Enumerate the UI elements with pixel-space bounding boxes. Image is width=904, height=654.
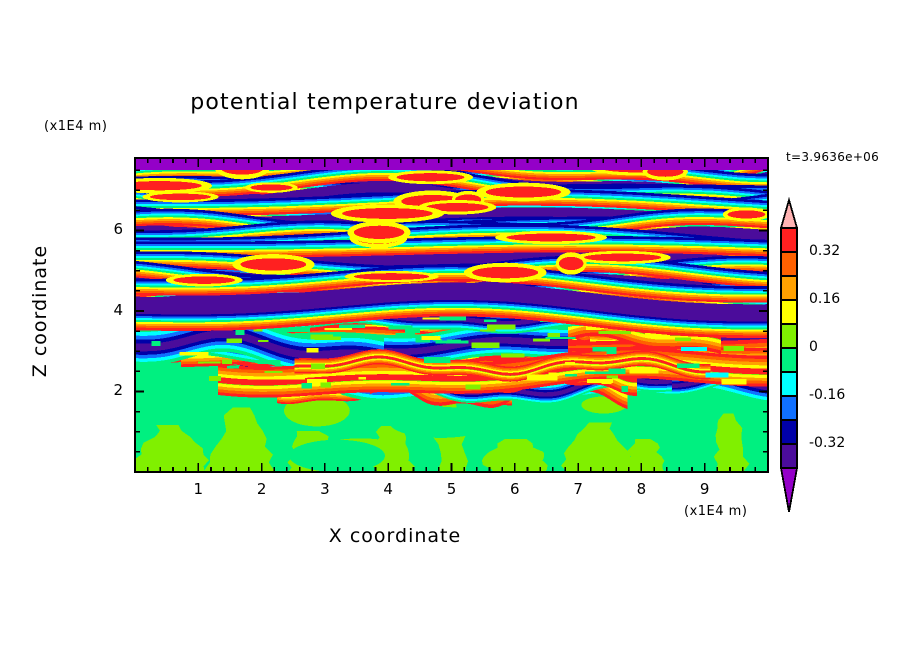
x-tick-label: 5 bbox=[432, 480, 472, 498]
colorbar-tick-label: -0.32 bbox=[809, 435, 845, 451]
x-tick-label: 8 bbox=[621, 480, 661, 498]
colorbar-tick-label: 0 bbox=[809, 339, 818, 355]
x-tick-label: 1 bbox=[178, 480, 218, 498]
y-tick-label: 6 bbox=[87, 220, 123, 238]
contour-plot bbox=[0, 0, 904, 654]
x-tick-label: 7 bbox=[558, 480, 598, 498]
figure-canvas: potential temperature deviation (x1E4 m)… bbox=[0, 0, 904, 654]
x-tick-label: 2 bbox=[242, 480, 282, 498]
x-tick-label: 6 bbox=[495, 480, 535, 498]
y-tick-label: 4 bbox=[87, 301, 123, 319]
x-tick-label: 9 bbox=[685, 480, 725, 498]
x-tick-label: 4 bbox=[368, 480, 408, 498]
colorbar-tick-label: 0.16 bbox=[809, 291, 840, 307]
x-tick-label: 3 bbox=[305, 480, 345, 498]
y-tick-label: 2 bbox=[87, 381, 123, 399]
colorbar-tick-label: -0.16 bbox=[809, 387, 845, 403]
colorbar[interactable] bbox=[781, 200, 797, 512]
colorbar-tick-label: 0.32 bbox=[809, 243, 840, 259]
